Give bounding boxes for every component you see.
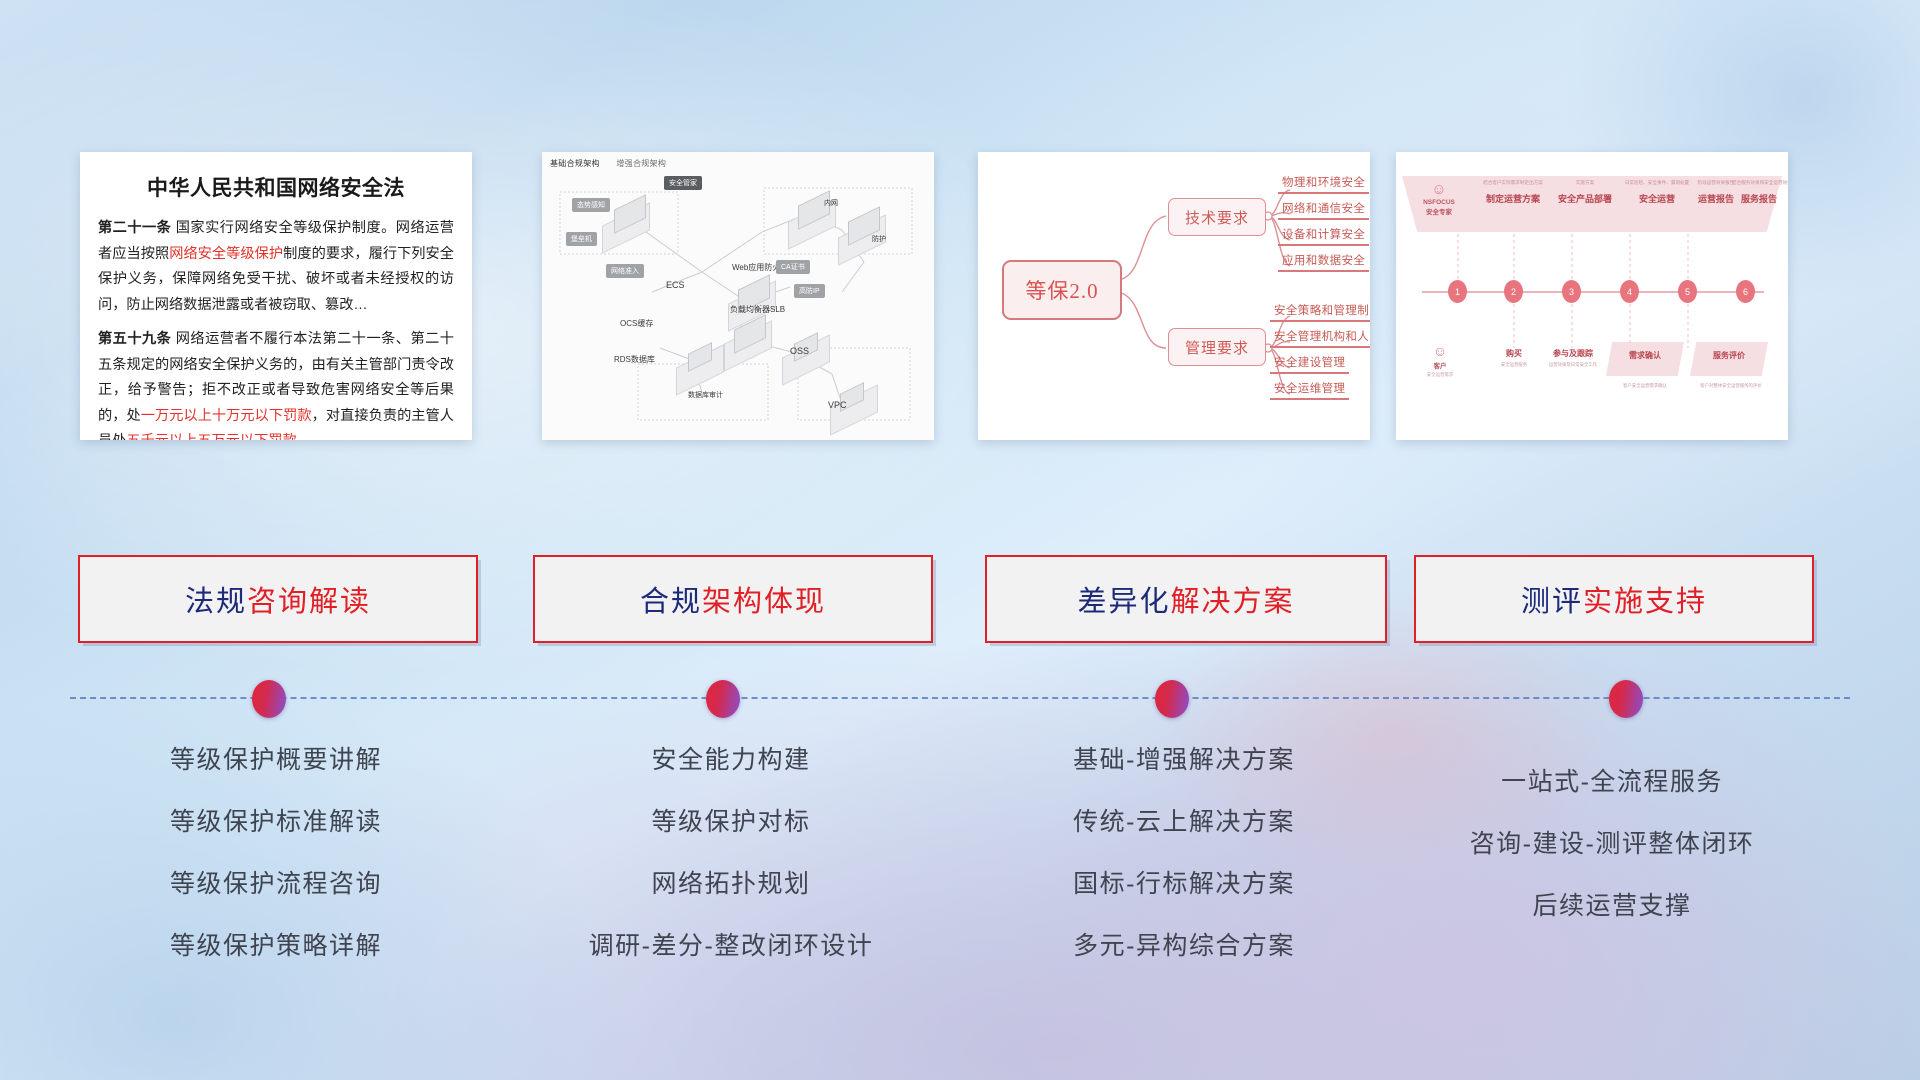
- mindmap-leaf-m2: 安全建设管理: [1270, 354, 1349, 374]
- arch-node-wangluozhunru: 网络准入: [606, 264, 644, 278]
- nsf-lower-2-sub: 运营效果及日常安全工作: [1538, 362, 1608, 368]
- list-item: 安全能力构建: [533, 740, 929, 776]
- mindmap-branch-management: 管理要求: [1168, 328, 1266, 366]
- law-article-label-59: 第五十九条: [98, 331, 171, 347]
- mindmap-branch-technical: 技术要求: [1168, 198, 1266, 236]
- arch-node-gaofangip: 高防IP: [794, 284, 825, 298]
- mindmap-leaf-m0: 安全策略和管理制度: [1270, 302, 1370, 322]
- dashed-timeline: [70, 697, 1850, 699]
- pillar-heading-3-suffix: 解决方案: [1171, 586, 1295, 618]
- nsf-node-3: 3: [1562, 280, 1581, 303]
- pillar-heading-3[interactable]: 差异化解决方案: [985, 555, 1387, 643]
- nsf-lower-2: 参与及跟踪 运营效果及日常安全工作: [1538, 348, 1608, 368]
- arch-node-ca: CA证书: [776, 260, 810, 274]
- nsf-lower-3-note: 客户安全运营需求确认: [1602, 380, 1688, 389]
- nsf-lower-4-main: 服务评价: [1692, 350, 1766, 361]
- mindmap-leaf-m1: 安全管理机构和人员: [1270, 328, 1370, 348]
- arch-node-ocs: OCS缓存: [620, 318, 653, 329]
- list-item: 网络拓扑规划: [533, 864, 929, 900]
- pillar-list-2: 安全能力构建 等级保护对标 网络拓扑规划 调研-差分-整改闭环设计: [533, 740, 929, 988]
- nsf-node-4: 4: [1620, 280, 1639, 303]
- pillar-heading-1-suffix: 咨询解读: [247, 586, 371, 618]
- arch-node-taishi: 态势感知: [572, 198, 610, 212]
- arch-node-oss: OSS: [790, 346, 809, 356]
- law-article-label-21: 第二十一条: [98, 220, 171, 236]
- list-item: 国标-行标解决方案: [985, 864, 1383, 900]
- nsf-node-2: 2: [1504, 280, 1523, 303]
- nsf-lower-1-main: 购买: [1484, 348, 1544, 359]
- list-item: 咨询-建设-测评整体闭环: [1414, 824, 1810, 860]
- card-architecture-diagram: 基础合规架构 增强合规架构: [542, 152, 934, 440]
- pillar-heading-2[interactable]: 合规架构体现: [533, 555, 933, 643]
- pillar-heading-1-prefix: 法规: [185, 586, 247, 618]
- nsf-customer: ☺ 客户 安全运营需求: [1414, 344, 1466, 378]
- list-item: 后续运营支撑: [1414, 886, 1810, 922]
- nsf-customer-label: 客户: [1414, 360, 1466, 370]
- card-law-document: 中华人民共和国网络安全法 第二十一条 国家实行网络安全等级保护制度。网络运营者应…: [80, 152, 472, 440]
- law-title: 中华人民共和国网络安全法: [98, 172, 454, 202]
- mindmap-leaf-t2: 设备和计算安全: [1278, 226, 1369, 246]
- nsf-lower-3: 需求确认: [1608, 350, 1682, 361]
- list-item: 等级保护对标: [533, 802, 929, 838]
- pillar-heading-4[interactable]: 测评实施支持: [1414, 555, 1814, 643]
- arch-node-db-audit: 数据库审计: [688, 390, 723, 400]
- pillar-list-row: 等级保护概要讲解 等级保护标准解读 等级保护流程咨询 等级保护策略详解 安全能力…: [0, 740, 1920, 980]
- nsf-lower-4: 服务评价: [1692, 350, 1766, 361]
- arch-node-ecs: ECS: [666, 280, 685, 290]
- timeline-dot-3: [1155, 680, 1189, 718]
- pillar-heading-4-suffix: 实施支持: [1583, 586, 1707, 618]
- pillar-heading-1[interactable]: 法规咨询解读: [78, 555, 478, 643]
- law-run-highlight-2: 五千元以上五万元以下罚款。: [126, 433, 310, 440]
- list-item: 等级保护概要讲解: [78, 740, 474, 776]
- list-item: 等级保护标准解读: [78, 802, 474, 838]
- nsf-lower-3-sub: 客户安全运营需求确认: [1602, 383, 1688, 389]
- nsf-lower-4-note: 客户对整体安全运营服务的评价: [1686, 380, 1776, 389]
- arch-node-vpc: VPC: [828, 400, 847, 410]
- mindmap-leaf-m3: 安全运维管理: [1270, 380, 1349, 400]
- nsf-lower-3-main: 需求确认: [1608, 350, 1682, 361]
- mindmap-root: 等保2.0: [1002, 260, 1122, 320]
- pillar-heading-3-prefix: 差异化: [1077, 586, 1170, 618]
- list-item: 传统-云上解决方案: [985, 802, 1383, 838]
- nsf-lower-2-main: 参与及跟踪: [1538, 348, 1608, 359]
- timeline-dot-1: [252, 680, 286, 718]
- nsf-lower-4-sub: 客户对整体安全运营服务的评价: [1686, 383, 1776, 389]
- customer-icon: ☺: [1414, 344, 1466, 358]
- list-item: 基础-增强解决方案: [985, 740, 1383, 776]
- pillar-heading-2-suffix: 架构体现: [702, 586, 826, 618]
- nsf-lower-1-sub: 安全运营服务: [1484, 362, 1544, 368]
- law-paragraph-59: 第五十九条 网络运营者不履行本法第二十一条、第二十五条规定的网络安全保护义务的，…: [98, 327, 454, 440]
- mindmap-leaf-t0: 物理和环境安全: [1278, 174, 1369, 194]
- pillar-list-1: 等级保护概要讲解 等级保护标准解读 等级保护流程咨询 等级保护策略详解: [78, 740, 474, 988]
- arch-node-slb: 负载均衡器SLB: [730, 304, 785, 315]
- mindmap-leaf-t3: 应用和数据安全: [1278, 252, 1369, 272]
- list-item: 调研-差分-整改闭环设计: [533, 926, 929, 962]
- nsf-node-1: 1: [1448, 280, 1467, 303]
- pillar-heading-2-prefix: 合规: [640, 586, 702, 618]
- nsf-node-6: 6: [1736, 280, 1755, 303]
- list-item: 一站式-全流程服务: [1414, 762, 1810, 798]
- nsf-customer-sub: 安全运营需求: [1414, 372, 1466, 378]
- pillar-heading-row: 法规咨询解读 合规架构体现 差异化解决方案 测评实施支持: [0, 555, 1920, 643]
- pillar-list-3: 基础-增强解决方案 传统-云上解决方案 国标-行标解决方案 多元-异构综合方案: [985, 740, 1383, 988]
- mindmap-leaf-t1: 网络和通信安全: [1278, 200, 1369, 220]
- law-run-highlight-1: 一万元以上十万元以下罚款: [141, 408, 312, 424]
- arch-node-baoleiji: 堡垒机: [566, 232, 597, 246]
- card-mindmap: 等保2.0 技术要求 管理要求 物理和环境安全 网络和通信安全 设备和计算安全 …: [978, 152, 1370, 440]
- arch-node-protect: 防护: [872, 234, 886, 244]
- list-item: 等级保护策略详解: [78, 926, 474, 962]
- arch-node-rds: RDS数据库: [614, 354, 655, 365]
- list-item: 多元-异构综合方案: [985, 926, 1383, 962]
- timeline-dot-4: [1609, 680, 1643, 718]
- nsf-lower-1: 购买 安全运营服务: [1484, 348, 1544, 368]
- list-item: 等级保护流程咨询: [78, 864, 474, 900]
- card-row: 中华人民共和国网络安全法 第二十一条 国家实行网络安全等级保护制度。网络运营者应…: [0, 152, 1920, 442]
- law-paragraph-21: 第二十一条 国家实行网络安全等级保护制度。网络运营者应当按照网络安全等级保护制度…: [98, 216, 454, 318]
- pillar-heading-4-prefix: 测评: [1521, 586, 1583, 618]
- card-nsfocus-timeline: ☺ NSFOCUS 安全专家 结合客户实际需求制定出方案 制定运营方案 实施方案…: [1396, 152, 1788, 440]
- law-run-highlight-0: 网络安全等级保护: [169, 246, 283, 262]
- arch-node-intranet: 内网: [824, 198, 838, 208]
- slide-root: 中华人民共和国网络安全法 第二十一条 国家实行网络安全等级保护制度。网络运营者应…: [0, 0, 1920, 1080]
- arch-node-anquanguanjia: 安全管家: [664, 176, 702, 190]
- timeline-dot-2: [706, 680, 740, 718]
- pillar-list-4: 一站式-全流程服务 咨询-建设-测评整体闭环 后续运营支撑: [1414, 740, 1810, 948]
- nsf-node-5: 5: [1678, 280, 1697, 303]
